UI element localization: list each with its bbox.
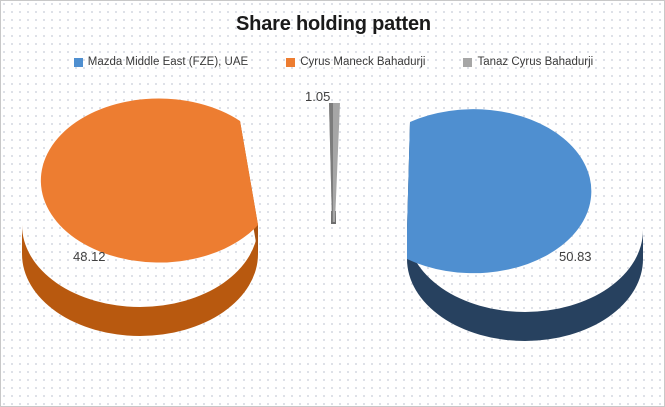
data-label-cyrus: 48.12 (73, 249, 106, 265)
legend-label-cyrus: Cyrus Maneck Bahadurji (300, 55, 425, 69)
pie-chart-graphic (1, 79, 665, 399)
legend-item-mazda[interactable]: Mazda Middle East (FZE), UAE (74, 55, 248, 69)
legend-label-tanaz: Tanaz Cyrus Bahadurji (477, 55, 593, 69)
pie-slice-cyrus-top (41, 99, 258, 263)
data-label-tanaz: 1.05 (305, 89, 330, 105)
pie-slice-tanaz[interactable] (329, 103, 340, 224)
legend-item-cyrus[interactable]: Cyrus Maneck Bahadurji (286, 55, 425, 69)
chart-legend: Mazda Middle East (FZE), UAE Cyrus Manec… (1, 55, 665, 69)
chart-title: Share holding patten (1, 11, 665, 37)
legend-swatch-gray-icon (463, 58, 472, 67)
pie-slice-tanaz-shade (329, 103, 333, 222)
legend-swatch-blue-icon (74, 58, 83, 67)
legend-item-tanaz[interactable]: Tanaz Cyrus Bahadurji (463, 55, 593, 69)
data-label-mazda: 50.83 (559, 249, 592, 265)
plot-area: 1.05 48.12 50.83 (1, 79, 665, 399)
pie-slice-mazda[interactable] (407, 109, 643, 341)
pie-slice-cyrus[interactable] (22, 99, 258, 336)
chart-container: Share holding patten Mazda Middle East (… (0, 0, 665, 407)
legend-swatch-orange-icon (286, 58, 295, 67)
legend-label-mazda: Mazda Middle East (FZE), UAE (88, 55, 248, 69)
